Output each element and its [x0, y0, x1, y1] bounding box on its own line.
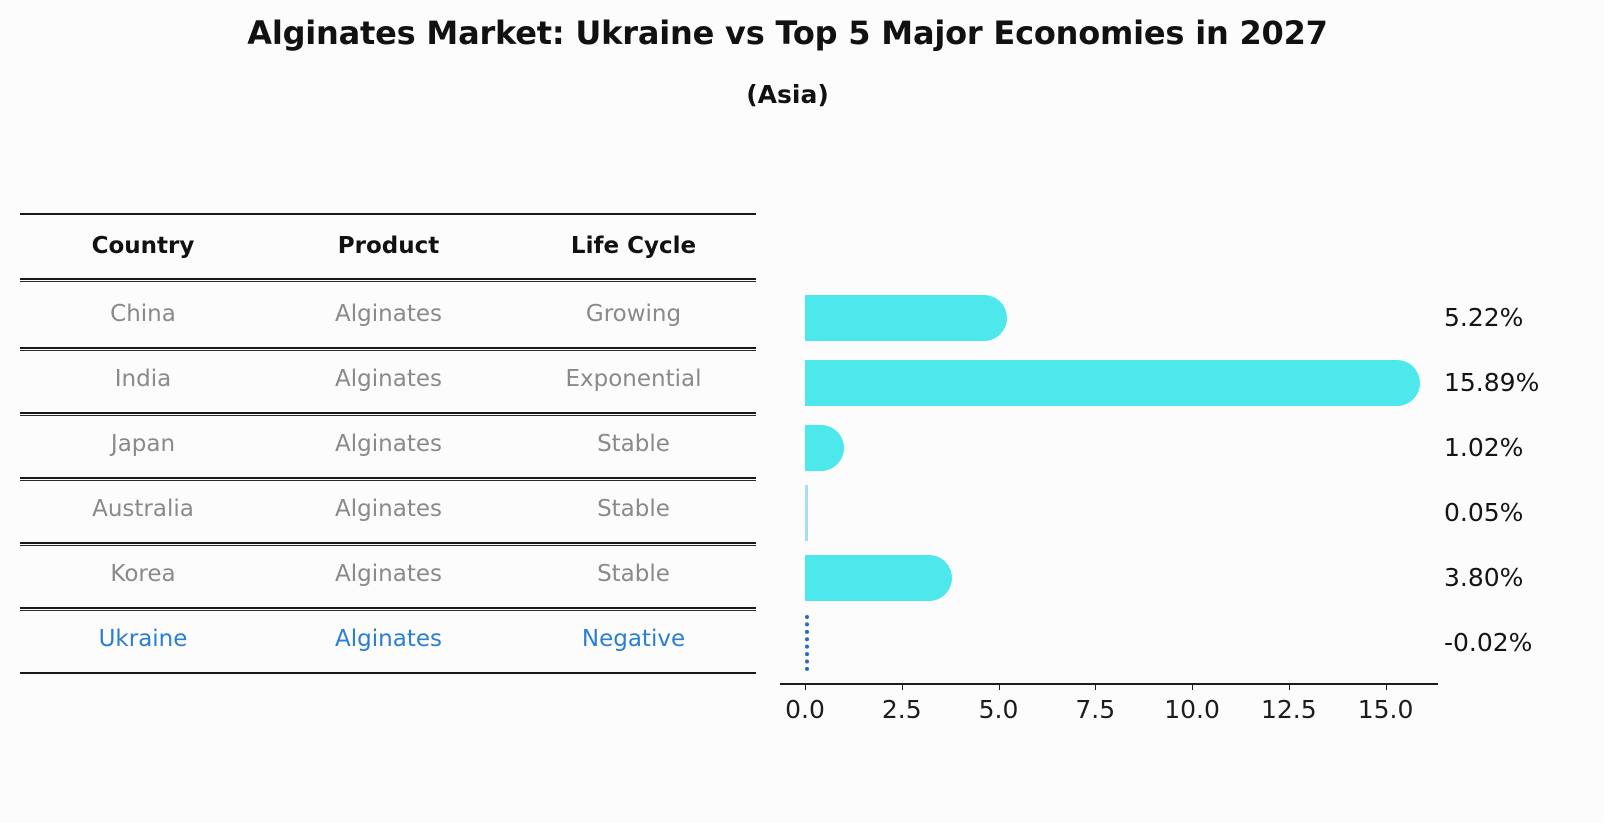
table-cell-country: Ukraine [20, 628, 266, 651]
table-cell-life-cycle: Growing [511, 303, 756, 326]
table-row[interactable]: AustraliaAlginatesStable [20, 477, 756, 542]
x-axis-tick [1095, 683, 1096, 690]
table-cell-country: India [20, 368, 266, 391]
bar-value-label-japan: 1.02% [1444, 425, 1523, 471]
x-axis-tick-label: 10.0 [1164, 695, 1220, 724]
table-rule [20, 672, 756, 674]
x-axis-tick [902, 683, 903, 690]
bar-value-label-australia: 0.05% [1444, 490, 1523, 536]
bar-value-label-india: 15.89% [1444, 360, 1539, 406]
table-cell-product: Alginates [266, 433, 511, 456]
table-cell-country: China [20, 303, 266, 326]
table-header-cell-country: Country [20, 235, 266, 258]
x-axis-tick [1386, 683, 1387, 690]
table-header-cell-life-cycle: Life Cycle [511, 235, 756, 258]
table-cell-product: Alginates [266, 368, 511, 391]
x-axis-tick [1192, 683, 1193, 690]
x-axis-tick [999, 683, 1000, 690]
bar-value-label-ukraine: -0.02% [1444, 620, 1532, 666]
x-axis-tick-label: 0.0 [785, 695, 825, 724]
table-cell-country: Korea [20, 563, 266, 586]
country-table: CountryProductLife CycleChinaAlginatesGr… [20, 213, 756, 681]
bar-india [805, 360, 1420, 406]
table-row[interactable]: JapanAlginatesStable [20, 412, 756, 477]
bar-japan [805, 425, 844, 471]
x-axis-tick-label: 12.5 [1261, 695, 1317, 724]
table-rule [20, 278, 756, 280]
page-subtitle: (Asia) [0, 80, 1575, 109]
table-cell-product: Alginates [266, 303, 511, 326]
bar-korea [805, 555, 952, 601]
x-axis-tick [805, 683, 806, 690]
table-cell-country: Japan [20, 433, 266, 456]
table-cell-product: Alginates [266, 563, 511, 586]
table-cell-country: Australia [20, 498, 266, 521]
x-axis-tick-label: 15.0 [1358, 695, 1414, 724]
table-cell-life-cycle: Stable [511, 433, 756, 456]
x-axis-line [780, 683, 1438, 685]
bar-china [805, 295, 1007, 341]
bar-value-label-china: 5.22% [1444, 295, 1523, 341]
bar-australia [805, 485, 808, 541]
table-cell-product: Alginates [266, 498, 511, 521]
table-cell-product: Alginates [266, 628, 511, 651]
chart-figure: Alginates Market: Ukraine vs Top 5 Major… [0, 0, 1604, 823]
bar-value-label-korea: 3.80% [1444, 555, 1523, 601]
table-row[interactable]: ChinaAlginatesGrowing [20, 282, 756, 347]
table-cell-life-cycle: Stable [511, 498, 756, 521]
table-cell-life-cycle: Exponential [511, 368, 756, 391]
table-row[interactable]: IndiaAlginatesExponential [20, 347, 756, 412]
page-title: Alginates Market: Ukraine vs Top 5 Major… [0, 14, 1575, 52]
table-header-cell-product: Product [266, 235, 511, 258]
bar-chart-plot: 5.22%15.89%1.02%0.05%3.80%-0.02%0.02.55.… [780, 213, 1460, 683]
x-axis-tick [1289, 683, 1290, 690]
x-axis-tick-label: 5.0 [979, 695, 1019, 724]
x-axis-tick-label: 2.5 [882, 695, 922, 724]
x-axis-tick-label: 7.5 [1075, 695, 1115, 724]
table-row[interactable]: UkraineAlginatesNegative [20, 607, 756, 672]
table-cell-life-cycle: Stable [511, 563, 756, 586]
table-row[interactable]: KoreaAlginatesStable [20, 542, 756, 607]
table-header-row: CountryProductLife Cycle [20, 214, 756, 279]
table-cell-life-cycle: Negative [511, 628, 756, 651]
bar-ukraine [805, 615, 809, 671]
